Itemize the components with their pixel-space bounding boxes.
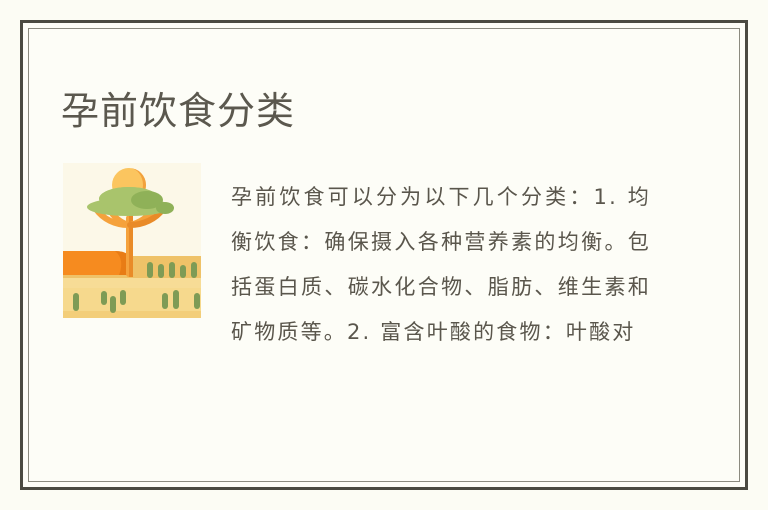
article-body: 孕前饮食可以分为以下几个分类：1. 均衡饮食：确保摄入各种营养素的均衡。包括蛋白… [231, 175, 651, 355]
page-title: 孕前饮食分类 [61, 87, 295, 135]
article-card: 孕前饮食分类 [20, 20, 748, 490]
savanna-landscape-illustration [63, 163, 201, 318]
article-content: 孕前饮食可以分为以下几个分类：1. 均衡饮食：确保摄入各种营养素的均衡。包括蛋白… [23, 141, 751, 441]
article-body-text: 孕前饮食可以分为以下几个分类：1. 均衡饮食：确保摄入各种营养素的均衡。包括蛋白… [231, 175, 651, 355]
